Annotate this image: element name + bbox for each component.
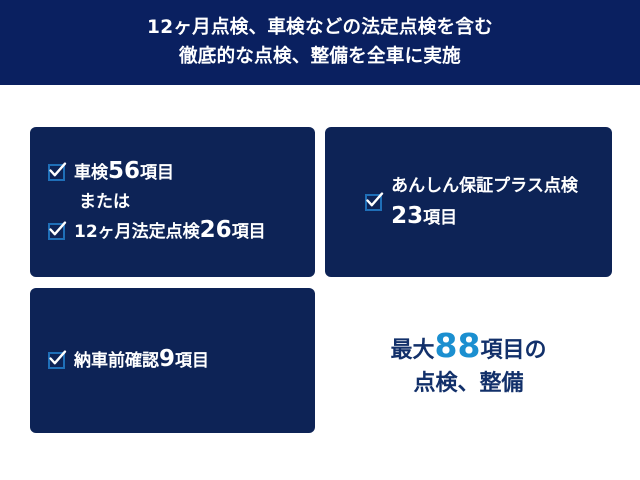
- card-predelivery-check: 納車前確認9項目: [30, 288, 315, 433]
- card-predelivery-content: 納車前確認9項目: [30, 288, 315, 433]
- inspection-shaken-number: 56: [108, 158, 140, 184]
- summary-particle: の: [524, 338, 546, 363]
- card-warranty-plus-inspection: あんしん保証プラス点検 23項目: [325, 127, 612, 277]
- inspection-shaken-suffix: 項目: [140, 163, 174, 183]
- warranty-suffix: 項目: [423, 208, 457, 228]
- summary-total-number: 88: [435, 326, 481, 365]
- warranty-label-block: あんしん保証プラス点検 23項目: [391, 174, 578, 230]
- inspection-connector-row: または: [48, 190, 297, 214]
- warranty-number: 23: [391, 203, 423, 229]
- summary-prefix: 最大: [391, 338, 435, 363]
- inspection-row-shaken: 車検56項目: [48, 160, 297, 185]
- predelivery-label: 納車前確認9項目: [74, 348, 209, 373]
- header-line-2: 徹底的な点検、整備を全車に実施: [179, 43, 461, 71]
- summary-middle: 項目: [480, 338, 524, 363]
- card-statutory-inspection: 車検56項目 または 12ヶ月法定点検26項目: [30, 127, 315, 277]
- inspection-row-12month: 12ヶ月法定点検26項目: [48, 219, 297, 244]
- warranty-title-label: あんしん保証プラス点検: [391, 174, 578, 198]
- predelivery-number: 9: [159, 346, 175, 372]
- checkbox-checked-icon: [48, 352, 65, 369]
- predelivery-prefix: 納車前確認: [74, 351, 159, 371]
- summary-total-block: 最大88項目の 点検、整備: [325, 300, 612, 425]
- inspection-12month-suffix: 項目: [232, 222, 266, 242]
- inspection-shaken-prefix: 車検: [74, 163, 108, 183]
- inspection-12month-prefix: 12ヶ月法定点検: [74, 222, 200, 242]
- header-banner: 12ヶ月点検、車検などの法定点検を含む 徹底的な点検、整備を全車に実施: [0, 0, 640, 85]
- predelivery-row: 納車前確認9項目: [48, 348, 297, 373]
- header-line-1: 12ヶ月点検、車検などの法定点検を含む: [147, 14, 493, 42]
- inspection-shaken-label: 車検56項目: [74, 160, 174, 185]
- checkbox-checked-icon: [48, 223, 65, 240]
- card-warranty-plus-content: あんしん保証プラス点検 23項目: [325, 127, 612, 277]
- checkbox-checked-icon: [48, 164, 65, 181]
- summary-line-2: 点検、整備: [413, 371, 523, 396]
- inspection-connector-label: または: [79, 190, 130, 214]
- card-statutory-inspection-content: 車検56項目 または 12ヶ月法定点検26項目: [30, 127, 315, 277]
- predelivery-suffix: 項目: [175, 351, 209, 371]
- inspection-12month-number: 26: [200, 217, 232, 243]
- inspection-12month-label: 12ヶ月法定点検26項目: [74, 219, 266, 244]
- checkbox-checked-icon: [365, 194, 382, 211]
- warranty-count-label: 23項目: [391, 205, 578, 230]
- summary-line-1: 最大88項目の: [391, 329, 547, 363]
